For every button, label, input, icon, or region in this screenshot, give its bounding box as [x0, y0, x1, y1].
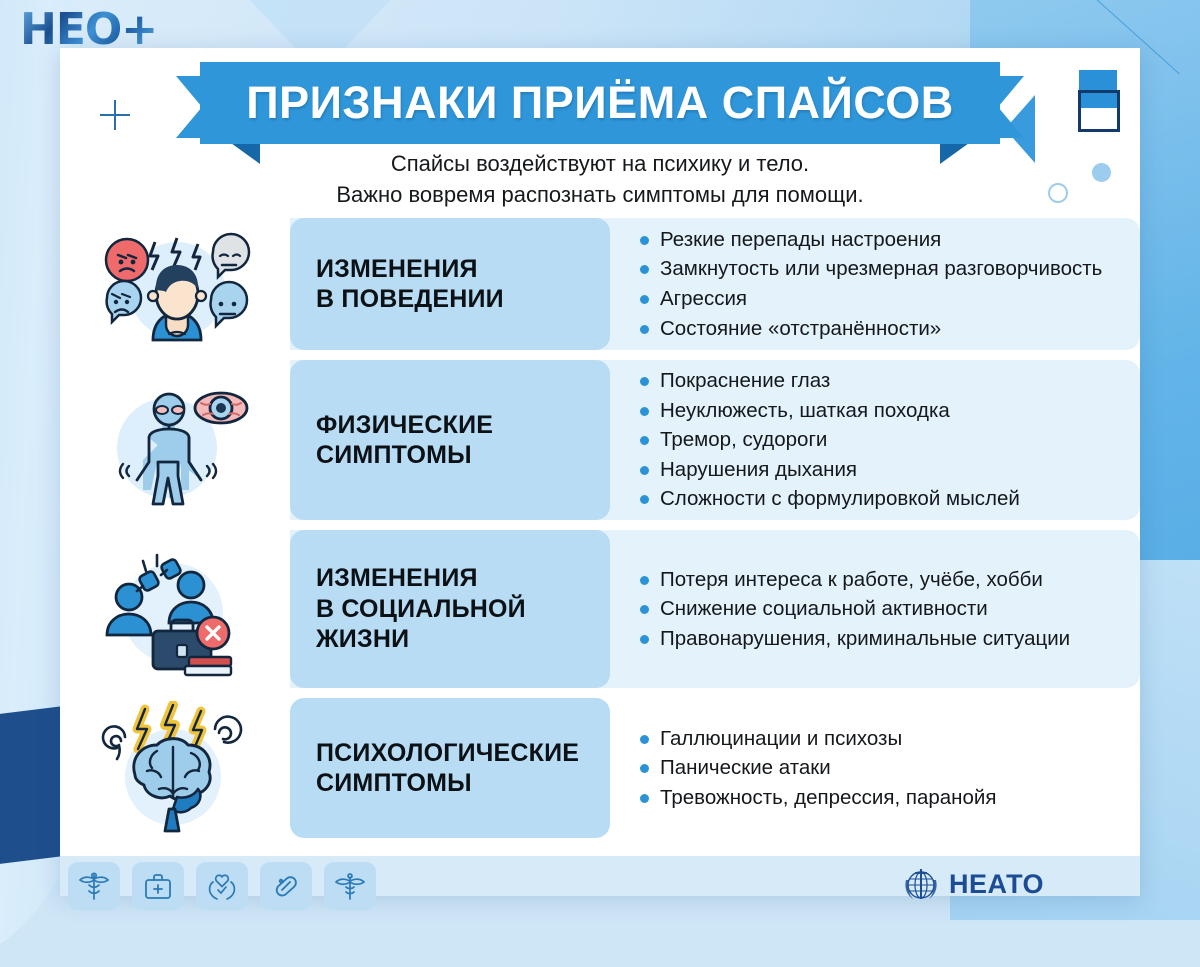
- brain-lightning-icon: [60, 698, 290, 838]
- organization-logo: НЕАТО: [901, 864, 1044, 904]
- section-bullets: Резкие перепады настроения Замкнутость и…: [610, 209, 1140, 359]
- section-title-line-3: ЖИЗНИ: [316, 625, 409, 653]
- bullet-item: Замкнутость или чрезмерная разговорчивос…: [640, 254, 1122, 284]
- organization-name: НЕАТО: [949, 869, 1044, 900]
- angry-person-emotions-icon: [60, 218, 290, 350]
- title-ribbon: ПРИЗНАКИ ПРИЁМА СПАЙСОВ: [60, 62, 1140, 158]
- trembling-body-red-eye-icon: [60, 360, 290, 520]
- section-row: ИЗМЕНЕНИЯ В СОЦИАЛЬНОЙ ЖИЗНИ Потеря инте…: [60, 530, 1140, 688]
- first-aid-kit-icon: [132, 862, 184, 910]
- bullet-item: Резкие перепады настроения: [640, 225, 1122, 255]
- bullet-item: Нарушения дыхания: [640, 455, 1122, 485]
- section-title-card: ИЗМЕНЕНИЯ В СОЦИАЛЬНОЙ ЖИЗНИ: [290, 530, 610, 688]
- section-title-card: ПСИХОЛОГИЧЕСКИЕ СИМПТОМЫ: [290, 698, 610, 838]
- bullet-item: Снижение социальной активности: [640, 594, 1122, 624]
- bullet-item: Галлюцинации и психозы: [640, 724, 1122, 754]
- subtitle-line-2: Важно вовремя распознать симптомы для по…: [60, 179, 1140, 210]
- section-title: ПСИХОЛОГИЧЕСКИЕ СИМПТОМЫ: [316, 738, 579, 799]
- bullet-item: Сложности с формулировкой мыслей: [640, 484, 1122, 514]
- section-title-line-2: В СОЦИАЛЬНОЙ: [316, 595, 526, 623]
- bullet-item: Неуклюжесть, шаткая походка: [640, 396, 1122, 426]
- section-title-line-1: ИЗМЕНЕНИЯ: [316, 564, 478, 592]
- neo-plus-logo: HEO+: [20, 8, 157, 52]
- section-title: ИЗМЕНЕНИЯ В СОЦИАЛЬНОЙ ЖИЗНИ: [316, 563, 526, 655]
- footer-bar: НЕАТО: [60, 856, 1140, 896]
- page-title: ПРИЗНАКИ ПРИЁМА СПАЙСОВ: [246, 77, 954, 129]
- caduceus-icon: [68, 862, 120, 910]
- bullet-item: Правонарушения, криминальные ситуации: [640, 624, 1122, 654]
- section-title-line-2: В ПОВЕДЕНИИ: [316, 285, 504, 313]
- section-row: ПСИХОЛОГИЧЕСКИЕ СИМПТОМЫ Галлюцинации и …: [60, 698, 1140, 838]
- section-bullets: Покраснение глаз Неуклюжесть, шаткая пох…: [610, 350, 1140, 530]
- section-title-line-2: СИМПТОМЫ: [316, 441, 472, 469]
- bullet-item: Панические атаки: [640, 753, 1122, 783]
- capsule-pill-icon: [260, 862, 312, 910]
- section-bullets: Галлюцинации и психозы Панические атаки …: [610, 708, 1140, 829]
- broken-social-link-briefcase-icon: [60, 530, 290, 688]
- bullet-item: Тремор, судороги: [640, 425, 1122, 455]
- heart-in-hands-icon: [196, 862, 248, 910]
- section-title-card: ФИЗИЧЕСКИЕ СИМПТОМЫ: [290, 360, 610, 520]
- section-title: ФИЗИЧЕСКИЕ СИМПТОМЫ: [316, 410, 493, 471]
- section-row: ИЗМЕНЕНИЯ В ПОВЕДЕНИИ Резкие перепады на…: [60, 218, 1140, 350]
- who-emblem-icon: [901, 864, 941, 904]
- section-title-card: ИЗМЕНЕНИЯ В ПОВЕДЕНИИ: [290, 218, 610, 350]
- ribbon-body: ПРИЗНАКИ ПРИЁМА СПАЙСОВ: [200, 62, 1000, 144]
- section-row: ФИЗИЧЕСКИЕ СИМПТОМЫ Покраснение глаз Неу…: [60, 360, 1140, 520]
- bullet-item: Покраснение глаз: [640, 366, 1122, 396]
- bullet-item: Состояние «отстранённости»: [640, 314, 1122, 344]
- section-title: ИЗМЕНЕНИЯ В ПОВЕДЕНИИ: [316, 254, 504, 315]
- bullet-item: Тревожность, депрессия, паранойя: [640, 783, 1122, 813]
- section-title-line-1: ФИЗИЧЕСКИЕ: [316, 411, 493, 439]
- section-bullets: Потеря интереса к работе, учёбе, хобби С…: [610, 549, 1140, 670]
- caduceus-wings-icon: [324, 862, 376, 910]
- sections-list: ИЗМЕНЕНИЯ В ПОВЕДЕНИИ Резкие перепады на…: [60, 218, 1140, 848]
- footer-icon-strip: [60, 856, 376, 910]
- section-title-line-2: СИМПТОМЫ: [316, 769, 472, 797]
- section-title-line-1: ИЗМЕНЕНИЯ: [316, 255, 478, 283]
- section-title-line-1: ПСИХОЛОГИЧЕСКИЕ: [316, 739, 579, 767]
- bullet-item: Потеря интереса к работе, учёбе, хобби: [640, 565, 1122, 595]
- bullet-item: Агрессия: [640, 284, 1122, 314]
